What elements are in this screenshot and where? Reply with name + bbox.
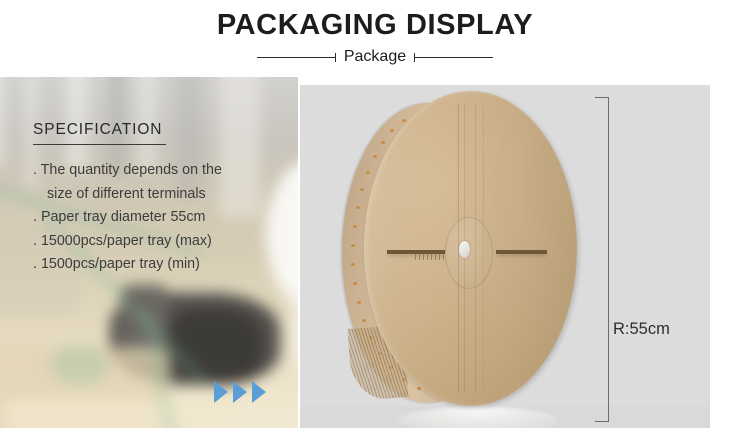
list-item: . 15000pcs/paper tray (max) bbox=[33, 230, 295, 254]
background-stripe bbox=[0, 77, 4, 167]
page-title: PACKAGING DISPLAY bbox=[0, 8, 750, 42]
list-item: . The quantity depends on the bbox=[33, 159, 295, 183]
stitch-mark bbox=[357, 301, 361, 304]
product-image-panel: R:55cm bbox=[300, 85, 710, 428]
list-item: . Paper tray diameter 55cm bbox=[33, 206, 295, 230]
paper-tray-image bbox=[342, 91, 577, 413]
stitch-mark bbox=[351, 263, 355, 266]
stitch-mark bbox=[360, 188, 364, 191]
stitch-mark bbox=[353, 282, 357, 285]
triangle-right-icon bbox=[233, 381, 247, 403]
stitch-mark bbox=[390, 129, 394, 132]
tray-front-face bbox=[364, 91, 577, 406]
tray-slot-ribs bbox=[415, 254, 445, 260]
stitch-mark bbox=[356, 206, 360, 209]
specification-heading-underline bbox=[33, 144, 166, 145]
packaging-display-page: PACKAGING DISPLAY Package SPECIFICATION … bbox=[0, 0, 750, 445]
tray-center-hole bbox=[459, 241, 470, 258]
triangle-right-icon bbox=[252, 381, 266, 403]
list-item: . 1500pcs/paper tray (min) bbox=[33, 253, 295, 277]
subtitle-row: Package bbox=[0, 45, 750, 69]
background-strap bbox=[50, 345, 110, 385]
specification-heading: SPECIFICATION bbox=[33, 120, 295, 140]
tray-reflection bbox=[398, 407, 558, 428]
tray-slot-right bbox=[496, 250, 547, 254]
triangle-right-icon bbox=[214, 381, 228, 403]
subtitle-rule-left bbox=[257, 53, 336, 62]
subtitle-rule-right bbox=[414, 53, 493, 62]
subtitle-label: Package bbox=[336, 48, 414, 66]
dimension-label: R:55cm bbox=[613, 319, 670, 339]
stitch-mark bbox=[402, 119, 406, 122]
bracket-tick-top bbox=[595, 97, 609, 98]
stitch-mark bbox=[351, 244, 355, 247]
bracket-vertical-line bbox=[608, 97, 609, 422]
stitch-mark bbox=[353, 225, 357, 228]
page-header: PACKAGING DISPLAY Package bbox=[0, 0, 750, 77]
background-carton-shape bbox=[4, 399, 234, 428]
stitch-mark bbox=[366, 171, 370, 174]
specification-block: SPECIFICATION . The quantity depends on … bbox=[33, 120, 295, 277]
background-machine-shape bbox=[166, 309, 262, 383]
bracket-tick-bottom bbox=[595, 421, 609, 422]
stitch-mark bbox=[381, 141, 385, 144]
list-item: size of different terminals bbox=[33, 183, 295, 207]
dimension-bracket bbox=[595, 97, 609, 422]
bottom-white-band bbox=[0, 428, 750, 445]
arrow-group bbox=[214, 381, 280, 403]
stitch-mark bbox=[373, 155, 377, 158]
specification-list: . The quantity depends on the size of di… bbox=[33, 159, 295, 277]
stitch-mark bbox=[362, 319, 366, 322]
